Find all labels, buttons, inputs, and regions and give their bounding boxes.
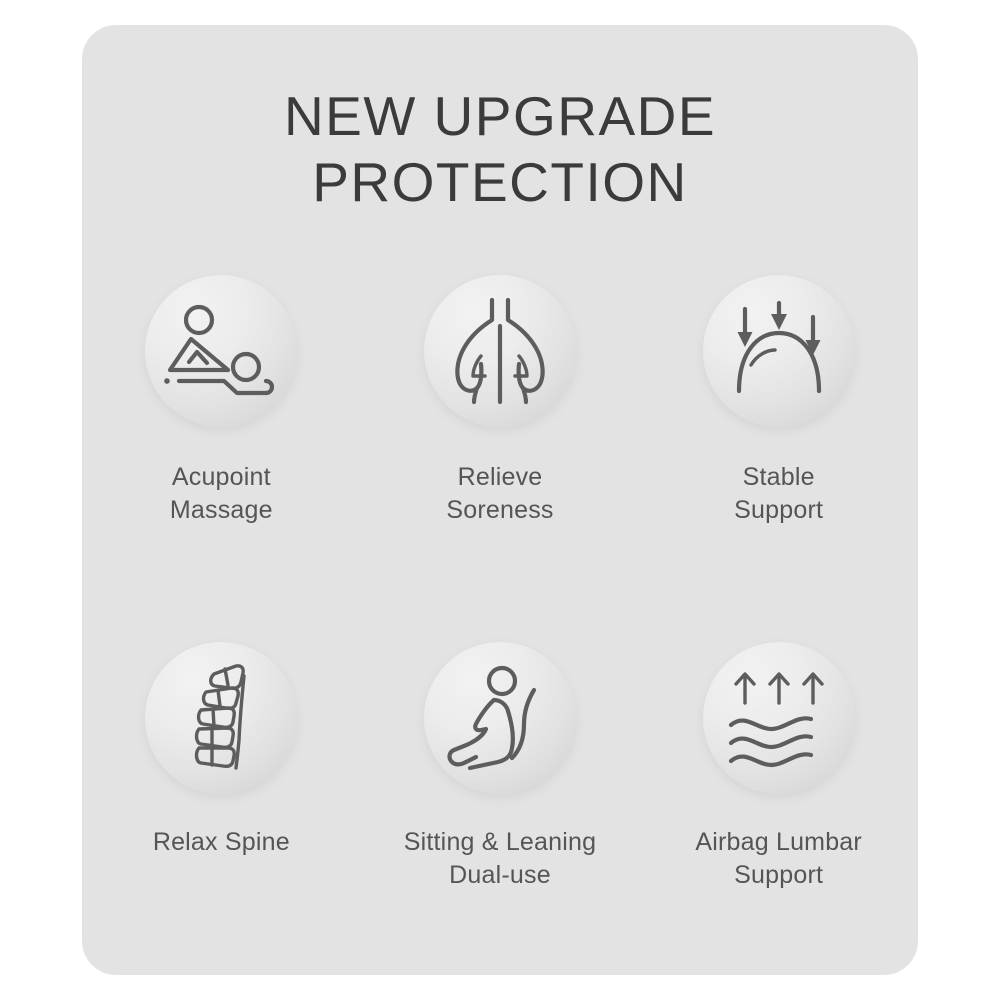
feature-label-line-2: Soreness: [446, 494, 553, 527]
feature-item-acupoint-massage: Acupoint Massage: [86, 275, 356, 642]
feature-label-airbag-lumbar-support: Airbag Lumbar Support: [695, 826, 862, 892]
title-line-1: NEW UPGRADE: [82, 83, 918, 149]
massage-therapist-icon: [162, 301, 280, 401]
dome-down-arrows-icon: [723, 303, 835, 399]
feature-label-sitting-leaning: Sitting & Leaning Dual-use: [404, 826, 596, 892]
feature-label-line-1: Relax Spine: [153, 826, 290, 859]
feature-label-acupoint-massage: Acupoint Massage: [170, 461, 273, 527]
feature-label-line-2: Support: [734, 494, 823, 527]
feature-label-line-2: Support: [695, 859, 862, 892]
feature-label-line-1: Airbag Lumbar: [695, 826, 862, 859]
airflow-up-arrows-waves-icon: [723, 669, 835, 767]
feature-label-line-1: Sitting & Leaning: [404, 826, 596, 859]
feature-label-line-1: Stable: [734, 461, 823, 494]
feature-label-line-2: Dual-use: [404, 859, 596, 892]
page-title: NEW UPGRADE PROTECTION: [82, 83, 918, 215]
icon-circle-airbag-lumbar-support: [703, 642, 855, 794]
icon-circle-sitting-leaning: [424, 642, 576, 794]
feature-label-line-1: Relieve: [446, 461, 553, 494]
icon-circle-stable-support: [703, 275, 855, 427]
feature-label-line-2: Massage: [170, 494, 273, 527]
feature-item-stable-support: Stable Support: [644, 275, 914, 642]
curved-spine-vertebrae-icon: [184, 660, 258, 776]
feature-label-relieve-soreness: Relieve Soreness: [446, 461, 553, 527]
icon-circle-acupoint-massage: [145, 275, 297, 427]
feature-item-relieve-soreness: Relieve Soreness: [365, 275, 635, 642]
feature-item-sitting-leaning: Sitting & Leaning Dual-use: [365, 642, 635, 975]
feature-card: NEW UPGRADE PROTECTION: [82, 25, 918, 975]
icon-circle-relieve-soreness: [424, 275, 576, 427]
seated-person-icon: [446, 666, 554, 770]
feature-label-line-1: Acupoint: [170, 461, 273, 494]
icon-circle-relax-spine: [145, 642, 297, 794]
product-feature-infographic: NEW UPGRADE PROTECTION: [0, 0, 1000, 1000]
title-line-2: PROTECTION: [82, 149, 918, 215]
feature-item-airbag-lumbar-support: Airbag Lumbar Support: [644, 642, 914, 975]
feature-grid: Acupoint Massage: [82, 275, 918, 975]
back-torso-spine-icon: [448, 298, 552, 404]
feature-label-relax-spine: Relax Spine: [153, 826, 290, 859]
feature-item-relax-spine: Relax Spine: [86, 642, 356, 975]
feature-label-stable-support: Stable Support: [734, 461, 823, 527]
